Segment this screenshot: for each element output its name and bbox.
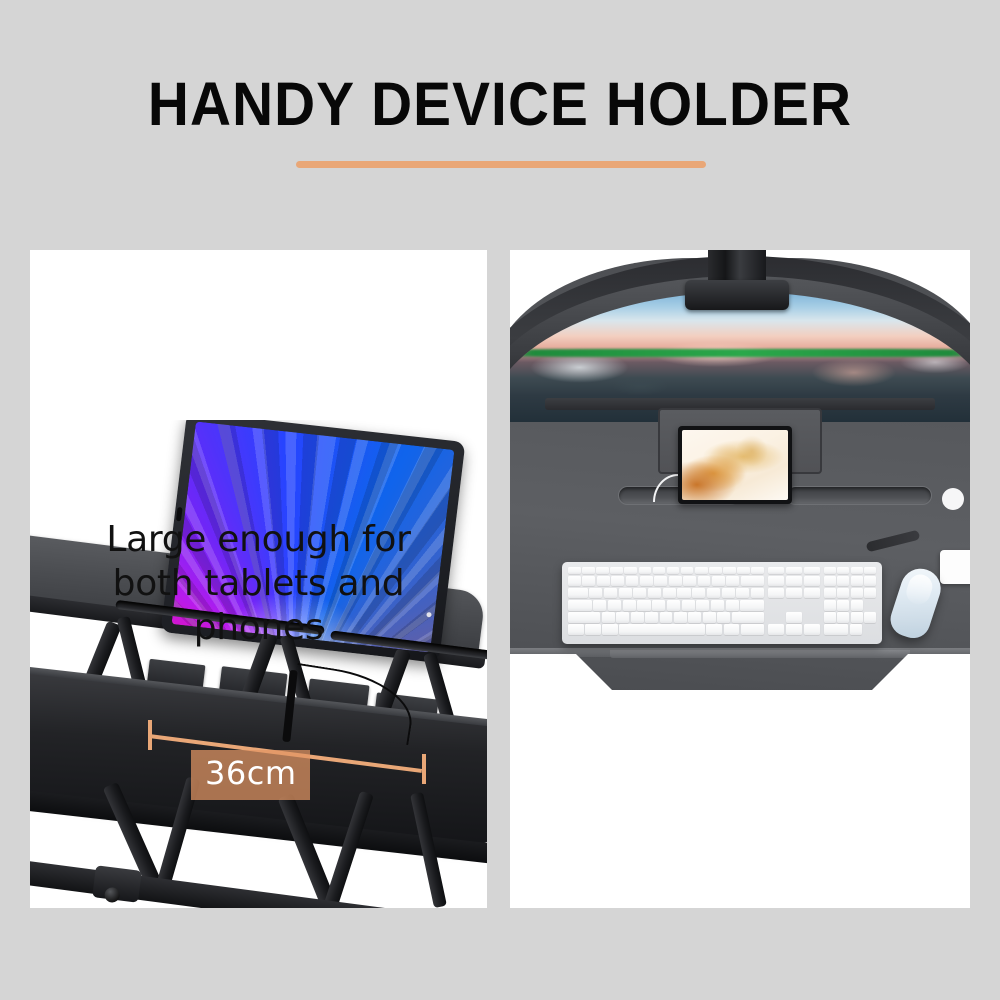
key bbox=[683, 576, 696, 587]
keyboard-row-space bbox=[568, 624, 764, 635]
key-shift-right bbox=[732, 612, 764, 623]
numpad-row-3 bbox=[824, 588, 876, 599]
key-del bbox=[768, 588, 784, 599]
cable-slot-right bbox=[786, 486, 932, 505]
key bbox=[682, 600, 695, 611]
page-title: HANDY DEVICE HOLDER bbox=[35, 73, 965, 135]
key-num-1 bbox=[824, 612, 836, 623]
key bbox=[633, 588, 646, 599]
keyboard-row-asdf bbox=[568, 600, 764, 611]
key bbox=[653, 567, 666, 574]
tablet-in-holder bbox=[678, 426, 792, 504]
key bbox=[711, 600, 724, 611]
title-divider bbox=[296, 161, 706, 168]
key-spacer bbox=[804, 600, 820, 611]
desk-front-lip-inner bbox=[610, 650, 910, 658]
key-backspace bbox=[741, 576, 764, 587]
numpad-row-2 bbox=[824, 576, 876, 587]
key-numlock bbox=[824, 576, 836, 587]
key-multiply bbox=[851, 576, 863, 587]
key bbox=[631, 612, 644, 623]
key bbox=[616, 612, 629, 623]
left-panel-caption: Large enough for both tablets and phones bbox=[30, 518, 487, 650]
key-arrow-left bbox=[768, 624, 784, 635]
key bbox=[824, 567, 836, 574]
keyboard-row-numbers bbox=[568, 576, 764, 587]
key-return bbox=[740, 600, 764, 611]
key bbox=[608, 600, 621, 611]
key bbox=[688, 612, 701, 623]
key bbox=[695, 567, 708, 574]
key-num-4 bbox=[824, 600, 836, 611]
key-arrow-down bbox=[786, 624, 802, 635]
key-control bbox=[585, 624, 601, 635]
monitor-stand-mount bbox=[685, 280, 789, 310]
key-arrow-up bbox=[786, 612, 802, 623]
keyboard-nav-row-1 bbox=[768, 567, 820, 574]
height-adjust-knob bbox=[92, 865, 142, 902]
keyboard-nav-row-2 bbox=[768, 576, 820, 587]
tablet-wallpaper-swirl bbox=[682, 430, 788, 500]
key bbox=[677, 588, 690, 599]
key bbox=[645, 612, 658, 623]
key bbox=[596, 567, 609, 574]
key-arrow-cluster bbox=[741, 624, 764, 635]
key bbox=[640, 576, 653, 587]
key bbox=[639, 567, 652, 574]
key bbox=[611, 576, 624, 587]
key-tab bbox=[568, 588, 588, 599]
key-num-6 bbox=[851, 600, 863, 611]
key bbox=[681, 567, 694, 574]
key bbox=[723, 567, 736, 574]
key bbox=[604, 588, 617, 599]
key bbox=[851, 567, 863, 574]
key bbox=[804, 567, 820, 574]
key bbox=[864, 567, 876, 574]
keyboard-numpad-cluster bbox=[824, 567, 876, 639]
keyboard bbox=[562, 562, 882, 644]
key-num-5 bbox=[837, 600, 849, 611]
keyboard-row-zxcv bbox=[568, 612, 764, 623]
key bbox=[626, 576, 639, 587]
key bbox=[610, 567, 623, 574]
key bbox=[712, 576, 725, 587]
key bbox=[786, 567, 802, 574]
key-spacer bbox=[768, 600, 784, 611]
keyboard-row-function bbox=[568, 567, 764, 574]
key bbox=[619, 588, 632, 599]
key-shift-left bbox=[568, 612, 600, 623]
key bbox=[660, 612, 673, 623]
key-command-right bbox=[706, 624, 722, 635]
key bbox=[703, 612, 716, 623]
key bbox=[623, 600, 636, 611]
key bbox=[652, 600, 665, 611]
monitor-wallpaper-green-band bbox=[510, 349, 970, 357]
key bbox=[568, 576, 581, 587]
numpad-row-6 bbox=[824, 624, 876, 635]
key-num-7 bbox=[824, 588, 836, 599]
key bbox=[717, 612, 730, 623]
key bbox=[669, 576, 682, 587]
numpad-row-1 bbox=[824, 567, 876, 574]
dimension-cap-left bbox=[148, 720, 152, 750]
key bbox=[751, 588, 764, 599]
key bbox=[726, 600, 739, 611]
key bbox=[696, 600, 709, 611]
key-option-right bbox=[724, 624, 740, 635]
keyboard-nav-row-3 bbox=[768, 588, 820, 599]
panel-right: Slots to feed a charging cable through bbox=[510, 250, 970, 908]
key bbox=[698, 576, 711, 587]
key-fn bbox=[568, 624, 584, 635]
key bbox=[692, 588, 705, 599]
key-spacer bbox=[864, 624, 876, 635]
key bbox=[597, 576, 610, 587]
key-num-8 bbox=[837, 588, 849, 599]
key bbox=[722, 588, 735, 599]
key bbox=[582, 567, 595, 574]
key-spacer bbox=[804, 612, 820, 623]
key bbox=[648, 588, 661, 599]
header-section: HANDY DEVICE HOLDER bbox=[0, 0, 1000, 230]
dimension-cap-right bbox=[422, 754, 426, 784]
key-num-2 bbox=[837, 612, 849, 623]
key-spacer bbox=[786, 600, 802, 611]
key-minus bbox=[864, 576, 876, 587]
key-pagedown bbox=[804, 588, 820, 599]
key bbox=[674, 612, 687, 623]
key bbox=[837, 567, 849, 574]
dimension-label: 36cm bbox=[191, 750, 310, 800]
key-num-0 bbox=[824, 624, 848, 635]
key-num-decimal bbox=[850, 624, 862, 635]
key bbox=[737, 567, 750, 574]
key-capslock bbox=[568, 600, 592, 611]
key bbox=[667, 567, 680, 574]
key bbox=[736, 588, 749, 599]
key-space bbox=[619, 624, 704, 635]
key-home bbox=[786, 576, 802, 587]
key-option-left bbox=[602, 624, 618, 635]
tablet-in-holder-screen bbox=[682, 430, 788, 500]
key bbox=[624, 567, 637, 574]
left-caption-line-1: Large enough for bbox=[30, 518, 487, 562]
key bbox=[663, 588, 676, 599]
key-plus bbox=[864, 588, 876, 599]
keyboard-nav-row-spacer bbox=[768, 600, 820, 611]
keyboard-arrow-row-up bbox=[768, 612, 820, 623]
keyboard-arrow-row-lrd bbox=[768, 624, 820, 635]
key bbox=[726, 576, 739, 587]
key-num-enter bbox=[864, 612, 876, 623]
panel-left: Large enough for both tablets and phones bbox=[30, 250, 487, 908]
desk-grommet-hole bbox=[942, 488, 964, 510]
key bbox=[768, 567, 784, 574]
key-num-3 bbox=[851, 612, 863, 623]
key-fn-home bbox=[768, 576, 784, 587]
key bbox=[751, 567, 764, 574]
key bbox=[582, 576, 595, 587]
key-num-9 bbox=[851, 588, 863, 599]
key bbox=[709, 567, 722, 574]
key bbox=[593, 600, 606, 611]
numpad-row-5 bbox=[824, 612, 876, 623]
left-caption-line-2: both tablets and bbox=[30, 562, 487, 606]
key bbox=[637, 600, 650, 611]
key bbox=[667, 600, 680, 611]
numpad-row-4 bbox=[824, 600, 876, 611]
key-arrow-right bbox=[804, 624, 820, 635]
key-pageup bbox=[804, 576, 820, 587]
key bbox=[602, 612, 615, 623]
key bbox=[589, 588, 602, 599]
key bbox=[707, 588, 720, 599]
desk-edge-notch bbox=[940, 550, 970, 584]
key bbox=[568, 567, 581, 574]
key-spacer bbox=[864, 600, 876, 611]
right-product-photo bbox=[510, 250, 970, 710]
keyboard-nav-cluster bbox=[768, 567, 820, 639]
left-caption-line-3: phones bbox=[30, 606, 487, 650]
key-end bbox=[786, 588, 802, 599]
key-divide bbox=[837, 576, 849, 587]
keyboard-main-cluster bbox=[568, 567, 764, 639]
keyboard-row-qwerty bbox=[568, 588, 764, 599]
key bbox=[654, 576, 667, 587]
left-product-photo: 36cm bbox=[30, 420, 487, 908]
key-spacer bbox=[768, 612, 784, 623]
